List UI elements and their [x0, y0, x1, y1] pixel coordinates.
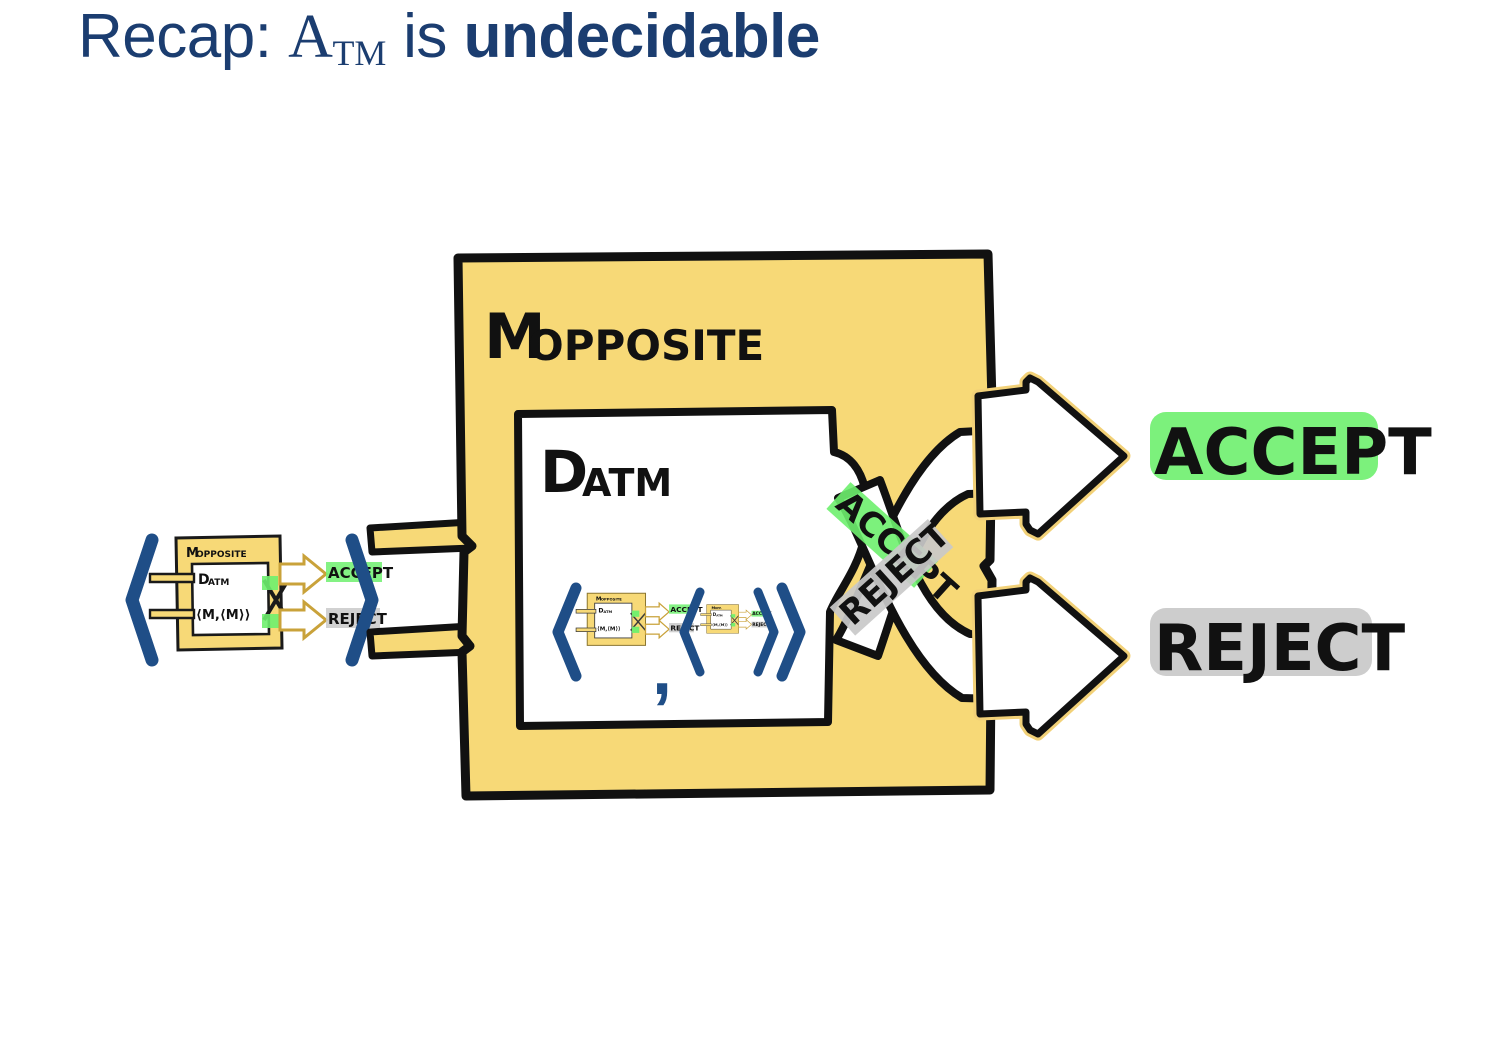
inner-machine-d-atm: D ATM: [518, 410, 868, 726]
mini-tape-input: ⟨M,⟨M⟩⟩: [196, 608, 251, 623]
output-label-reject-group: REJECT: [1150, 608, 1406, 686]
output-arrow-accept: [978, 378, 1124, 534]
mini-outer-label-sub: OPPOSITE: [196, 550, 247, 560]
mini-arrow-accept: [280, 556, 326, 592]
svg-text:⟨M,⟨M⟩⟩: ⟨M,⟨M⟩⟩: [712, 623, 728, 627]
output-reject-label: REJECT: [1154, 612, 1406, 686]
mini-arrow-reject: [280, 602, 326, 638]
diagram-figure: M OPPOSITE D ATM ⟨M,⟨M⟩⟩ ACCEPT REJECT: [0, 0, 1500, 1050]
input-tapes: [370, 522, 472, 656]
outer-machine-label-sub: OPPOSITE: [528, 321, 764, 370]
tape-comma: ,: [652, 630, 672, 710]
inner-machine-label-sub: ATM: [582, 461, 672, 505]
svg-text:OPP.: OPP.: [715, 606, 722, 610]
mini-wire-accept-highlight: [262, 576, 278, 590]
input-word-group: M OPPOSITE D ATM ⟨M,⟨M⟩⟩ ACCEPT REJECT: [132, 536, 394, 660]
svg-text:ATM: ATM: [716, 614, 723, 618]
mini-wire-reject-highlight: [262, 614, 280, 628]
svg-text:ATM: ATM: [603, 610, 612, 614]
output-label-accept-group: ACCEPT: [1150, 412, 1432, 490]
mini-inner-label-sub: ATM: [208, 578, 229, 588]
output-arrows: [978, 378, 1124, 734]
svg-text:⟨M,⟨M⟩⟩: ⟨M,⟨M⟩⟩: [597, 625, 620, 632]
input-open-bracket: [132, 540, 152, 660]
svg-text:OPPOSITE: OPPOSITE: [601, 598, 622, 602]
output-accept-label: ACCEPT: [1154, 416, 1432, 490]
output-arrow-reject: [978, 578, 1124, 734]
inner-machine-label-base: D: [540, 438, 588, 506]
